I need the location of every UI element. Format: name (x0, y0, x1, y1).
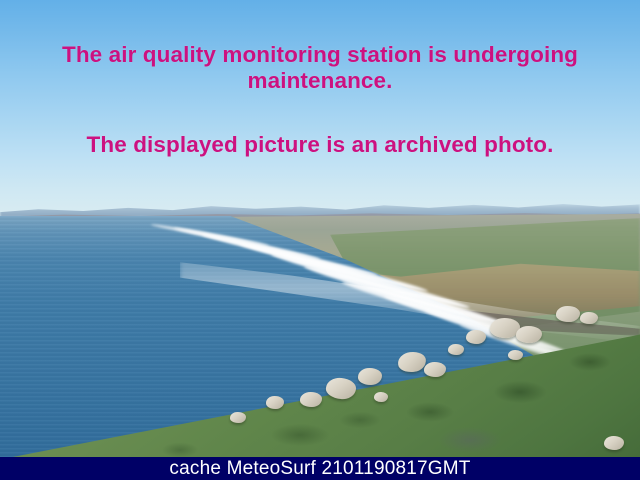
boulder (358, 368, 382, 385)
boulder (374, 392, 388, 402)
webcam-image-viewport: The air quality monitoring station is un… (0, 0, 640, 480)
status-bar: cache MeteoSurf 2101190817GMT (0, 457, 640, 480)
boulder (300, 392, 322, 407)
boulder (604, 436, 624, 450)
boulder (580, 312, 598, 324)
boulder (466, 330, 486, 344)
boulder (230, 412, 246, 423)
boulder (508, 350, 523, 360)
archived-photo-notice-line: The displayed picture is an archived pho… (28, 132, 612, 158)
boulder (266, 396, 284, 409)
boulder (448, 344, 464, 355)
boulder (424, 362, 446, 377)
sky-region (0, 0, 640, 216)
maintenance-notice-line: The air quality monitoring station is un… (28, 42, 612, 94)
boulder (556, 306, 580, 322)
boulder (516, 326, 542, 343)
status-bar-label: cache MeteoSurf 2101190817GMT (169, 457, 470, 480)
